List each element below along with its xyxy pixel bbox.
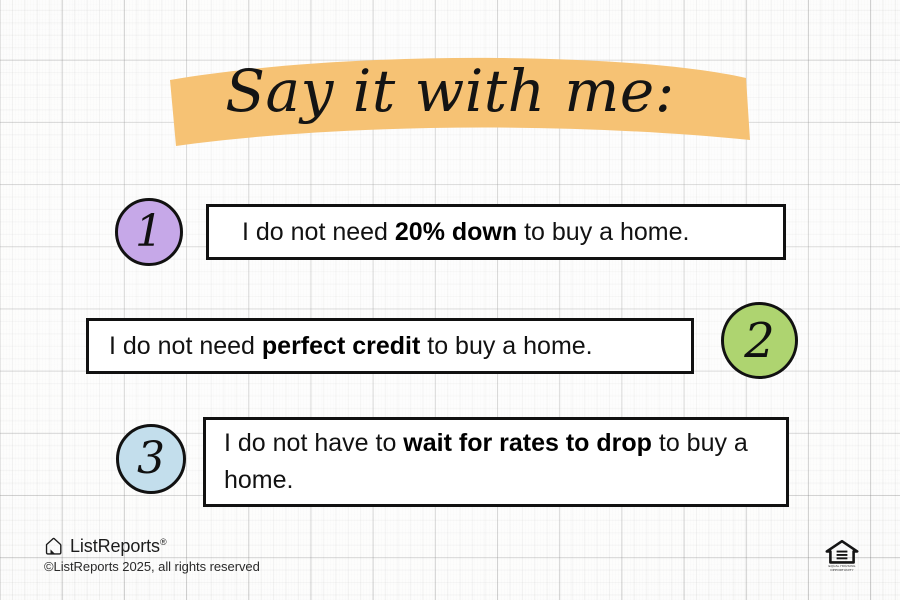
statement-text-3: I do not have to wait for rates to drop … <box>206 425 786 499</box>
statement-1-prefix: I do not need <box>242 218 395 246</box>
statement-3-prefix: I do not have to <box>224 429 403 457</box>
statement-box-1: I do not need 20% down to buy a home. <box>206 204 786 260</box>
statement-text-2: I do not need perfect credit to buy a ho… <box>89 328 593 365</box>
page-title: Say it with me: <box>0 44 900 138</box>
statement-3-emphasis: wait for rates to drop <box>403 429 652 457</box>
brand-name-text: ListReports <box>70 536 160 556</box>
statement-text-1: I do not need 20% down to buy a home. <box>209 214 689 251</box>
equal-housing-opportunity-icon <box>825 539 859 565</box>
statement-2-suffix: to buy a home. <box>420 332 592 360</box>
statement-number-circle-3: 3 <box>116 424 186 494</box>
statement-box-3: I do not have to wait for rates to drop … <box>203 417 789 507</box>
brand-name-wrapper: ListReports® <box>70 536 166 557</box>
statement-2-emphasis: perfect credit <box>262 332 420 360</box>
statement-number-2: 2 <box>744 317 775 365</box>
brand-registered-mark: ® <box>160 537 167 547</box>
poster-canvas: Say it with me: 1 I do not need 20% down… <box>0 0 900 600</box>
eho-caption: EQUAL HOUSING OPPORTUNITY <box>820 565 864 572</box>
statement-1-suffix: to buy a home. <box>517 218 689 246</box>
copyright-text: ©ListReports 2025, all rights reserved <box>44 559 260 574</box>
equal-housing-opportunity-logo: EQUAL HOUSING OPPORTUNITY <box>820 539 864 575</box>
statement-1-emphasis: 20% down <box>395 218 517 246</box>
statement-box-2: I do not need perfect credit to buy a ho… <box>86 318 694 374</box>
footer-branding: ListReports® ©ListReports 2025, all righ… <box>44 536 260 574</box>
title-block: Say it with me: <box>0 44 900 164</box>
statement-number-3: 3 <box>137 437 165 481</box>
listreports-house-tag-icon <box>44 537 63 556</box>
brand-row: ListReports® <box>44 536 260 557</box>
eho-caption-line-2: OPPORTUNITY <box>830 568 853 572</box>
statement-number-circle-2: 2 <box>721 302 798 379</box>
statement-number-1: 1 <box>135 210 163 254</box>
statement-2-prefix: I do not need <box>109 332 262 360</box>
statement-number-circle-1: 1 <box>115 198 183 266</box>
